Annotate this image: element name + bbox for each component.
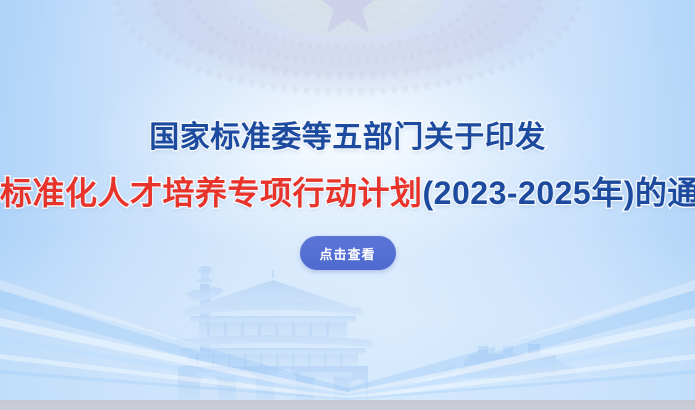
view-details-button[interactable]: 点击查看 <box>300 236 396 270</box>
banner-title-line-2: 标准化人才培养专项行动计划(2023-2025年)的通知 <box>0 172 695 214</box>
policy-banner: 国家标准委等五部门关于印发 标准化人才培养专项行动计划(2023-2025年)的… <box>0 0 695 410</box>
banner-title-tail: (2023-2025年)的通知 <box>423 175 695 211</box>
banner-title-highlight: 标准化人才培养专项行动计划 <box>0 175 423 211</box>
banner-title-line-1: 国家标准委等五部门关于印发 <box>0 118 695 158</box>
banner-content: 国家标准委等五部门关于印发 标准化人才培养专项行动计划(2023-2025年)的… <box>0 0 695 410</box>
